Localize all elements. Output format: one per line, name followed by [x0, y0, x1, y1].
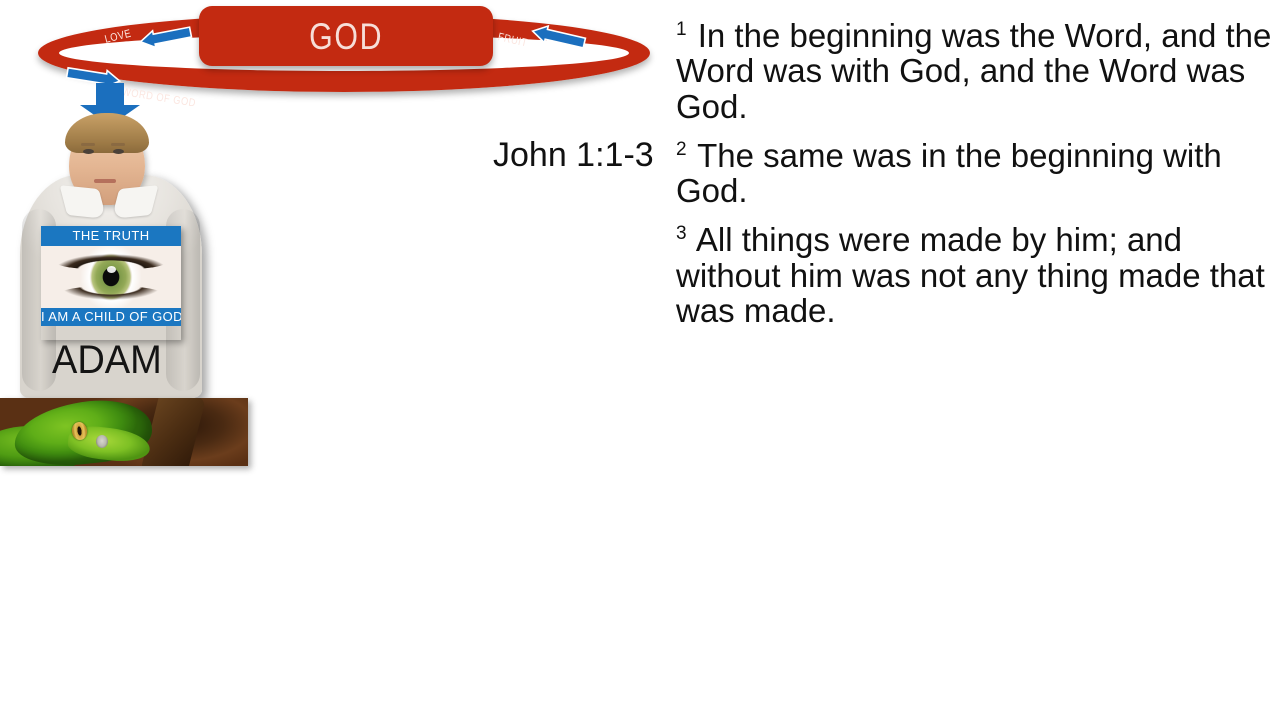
verse-number: 3 — [676, 223, 687, 244]
person-mouth — [94, 179, 116, 183]
person-brow-right — [111, 143, 125, 146]
verse-3: 3 All things were made by him; and witho… — [676, 222, 1276, 328]
verse-text: In the beginning was the Word, and the W… — [676, 17, 1271, 125]
god-banner-label: GOD — [309, 18, 383, 55]
serpent-photo — [0, 398, 248, 466]
scripture-body: 1 In the beginning was the Word, and the… — [676, 18, 1276, 342]
scripture-reference: John 1:1-3 — [493, 138, 654, 172]
god-banner: GOD — [199, 6, 493, 66]
person-hair — [65, 113, 149, 153]
verse-text: The same was in the beginning with God. — [676, 137, 1222, 209]
verse-1: 1 In the beginning was the Word, and the… — [676, 18, 1276, 124]
person-brow-left — [81, 143, 95, 146]
snake-nostril-shape — [96, 435, 108, 448]
person-eye-right — [113, 149, 124, 154]
person-eye-left — [83, 149, 94, 154]
verse-text: All things were made by him; and without… — [676, 221, 1265, 329]
verse-number: 2 — [676, 139, 687, 160]
truth-sign: THE TRUTH I AM A CHILD OF GOD — [41, 226, 181, 340]
slide-canvas: GOD LOVE FRUIT WORD OF GOD — [0, 0, 1280, 720]
eye-lower-lashes — [61, 286, 161, 300]
eye-photo — [41, 246, 181, 308]
verse-2: 2 The same was in the beginning with God… — [676, 138, 1276, 209]
truth-sign-top-band: THE TRUTH — [41, 226, 181, 246]
adam-figure: THE TRUTH I AM A CHILD OF GOD ADAM — [8, 113, 213, 398]
truth-sign-bottom-band: I AM A CHILD OF GOD — [41, 308, 181, 326]
adam-name-label: ADAM — [52, 340, 162, 380]
verse-number: 1 — [676, 19, 687, 40]
eye-glint — [107, 266, 116, 273]
